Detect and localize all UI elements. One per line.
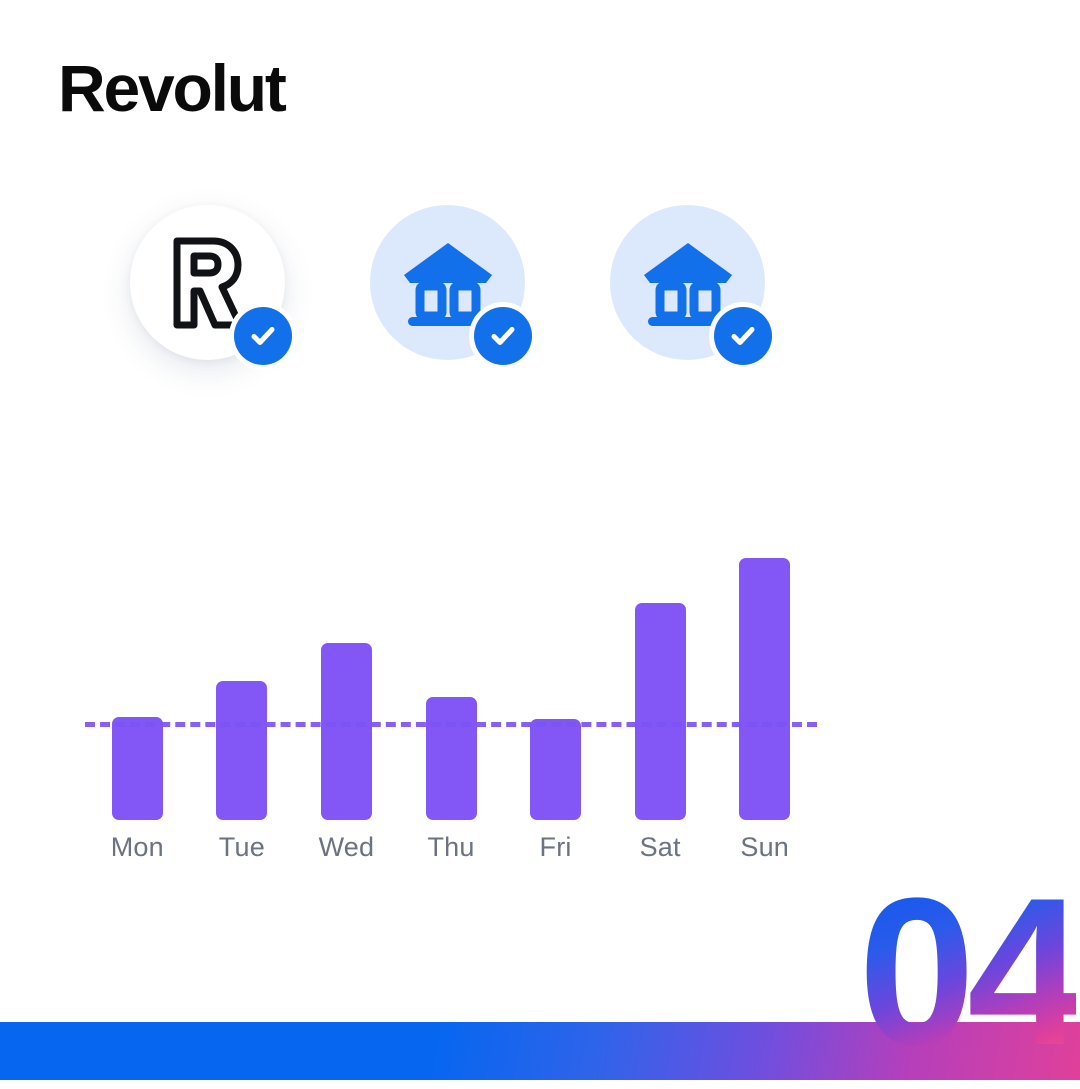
- bar-fri[interactable]: [530, 719, 581, 820]
- x-tick-fri: Fri: [540, 832, 572, 863]
- bar-mon[interactable]: [112, 717, 163, 820]
- account-badge-bank-2[interactable]: [610, 205, 765, 360]
- bar-fill: [321, 643, 372, 820]
- bar-series: [85, 540, 817, 825]
- brand-wordmark: Revolut: [58, 55, 285, 121]
- chart-plot-area: [0, 540, 1080, 825]
- check-icon: [487, 320, 519, 352]
- verified-check-badge: [709, 302, 777, 370]
- verified-check-badge: [469, 302, 537, 370]
- x-tick-wed: Wed: [319, 832, 375, 863]
- bar-sun[interactable]: [739, 558, 790, 820]
- verified-check-badge: [229, 302, 297, 370]
- slide-number: 04: [858, 890, 1076, 1054]
- bar-tue[interactable]: [216, 681, 267, 820]
- bar-fill: [635, 603, 686, 820]
- bar-thu[interactable]: [426, 697, 477, 820]
- bar-fill: [530, 719, 581, 820]
- check-icon: [247, 320, 279, 352]
- check-icon: [727, 320, 759, 352]
- x-tick-thu: Thu: [427, 832, 474, 863]
- x-tick-sat: Sat: [640, 832, 681, 863]
- bar-fill: [216, 681, 267, 820]
- bar-sat[interactable]: [635, 603, 686, 820]
- weekly-spending-bar-chart: MonTueWedThuFriSatSun: [0, 540, 1080, 890]
- x-axis-tick-labels: MonTueWedThuFriSatSun: [85, 832, 817, 872]
- account-badge-revolut[interactable]: [130, 205, 285, 360]
- verified-accounts-row: [130, 205, 765, 360]
- bar-fill: [112, 717, 163, 820]
- average-threshold-line: [85, 722, 817, 727]
- bar-fill: [426, 697, 477, 820]
- x-tick-mon: Mon: [111, 832, 164, 863]
- x-tick-sun: Sun: [740, 832, 789, 863]
- bar-fill: [739, 558, 790, 820]
- bar-wed[interactable]: [321, 643, 372, 820]
- x-tick-tue: Tue: [219, 832, 265, 863]
- account-badge-bank-1[interactable]: [370, 205, 525, 360]
